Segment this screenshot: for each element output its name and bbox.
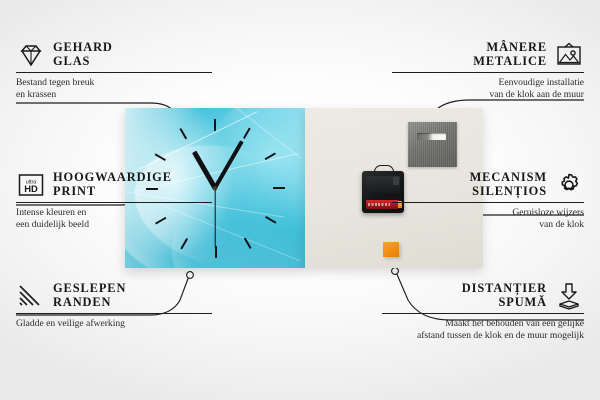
gear-icon <box>554 170 584 199</box>
feature-rule <box>392 72 584 73</box>
feature-mecanism-silentios: MECANISM SILENȚIOS Geruisloze wijzers va… <box>392 170 584 230</box>
spacer-press-icon <box>554 281 584 310</box>
feature-desc: Bestand tegen breuk en krassen <box>16 77 212 100</box>
clock-second-hand <box>214 188 215 248</box>
hanger-keyhole-slot <box>417 133 446 140</box>
feature-distantier-spuma: DISTANȚIER SPUMĂ Maakt het behouden van … <box>382 281 584 341</box>
feature-desc: Intense kleuren en een duidelijk beeld <box>16 207 212 230</box>
feature-hoogwaardige-print: ultra HD HOOGWAARDIGE PRINT Intense kleu… <box>16 170 212 230</box>
feature-manere-metalice: MÂNERE METALICE Eenvoudige installatie v… <box>392 40 584 100</box>
feature-gehard-glas: GEHARD GLAS Bestand tegen breuk en krass… <box>16 40 212 100</box>
feature-rule <box>16 313 212 314</box>
movement-hanging-loop <box>374 165 394 175</box>
svg-text:HD: HD <box>24 183 38 194</box>
feature-rule <box>16 72 212 73</box>
feature-desc: Eenvoudige installatie van de klok aan d… <box>392 77 584 100</box>
ultra-hd-icon: ultra HD <box>16 170 46 199</box>
feature-rule <box>16 202 212 203</box>
feature-rule <box>392 202 584 203</box>
picture-frame-icon <box>554 40 584 69</box>
diamond-icon <box>16 40 46 69</box>
connector-dot-distantier-spuma <box>392 268 399 275</box>
infographic-canvas: GEHARD GLAS Bestand tegen breuk en krass… <box>0 0 600 400</box>
feature-title: MÂNERE METALICE <box>473 41 547 68</box>
feature-title: HOOGWAARDIGE PRINT <box>53 171 172 198</box>
bevelled-edges-icon <box>16 281 46 310</box>
feature-title: MECANISM SILENȚIOS <box>470 171 547 198</box>
battery-label <box>368 203 390 206</box>
feature-title: GESLEPEN RANDEN <box>53 282 126 309</box>
feature-title: DISTANȚIER SPUMĂ <box>462 282 547 309</box>
connector-dot-geslepen-randen <box>187 272 194 279</box>
clock-center-hub <box>213 186 217 190</box>
feature-desc: Maakt het behouden van een gelijke afsta… <box>382 318 584 341</box>
feature-desc: Geruisloze wijzers van de klok <box>392 207 584 230</box>
feature-title: GEHARD GLAS <box>53 41 113 68</box>
feature-desc: Gladde en veilige afwerking <box>16 318 212 330</box>
feature-geslepen-randen: GESLEPEN RANDEN Gladde en veilige afwerk… <box>16 281 212 330</box>
foam-spacer <box>383 242 399 257</box>
metal-hanger <box>408 122 457 167</box>
feature-rule <box>382 313 584 314</box>
